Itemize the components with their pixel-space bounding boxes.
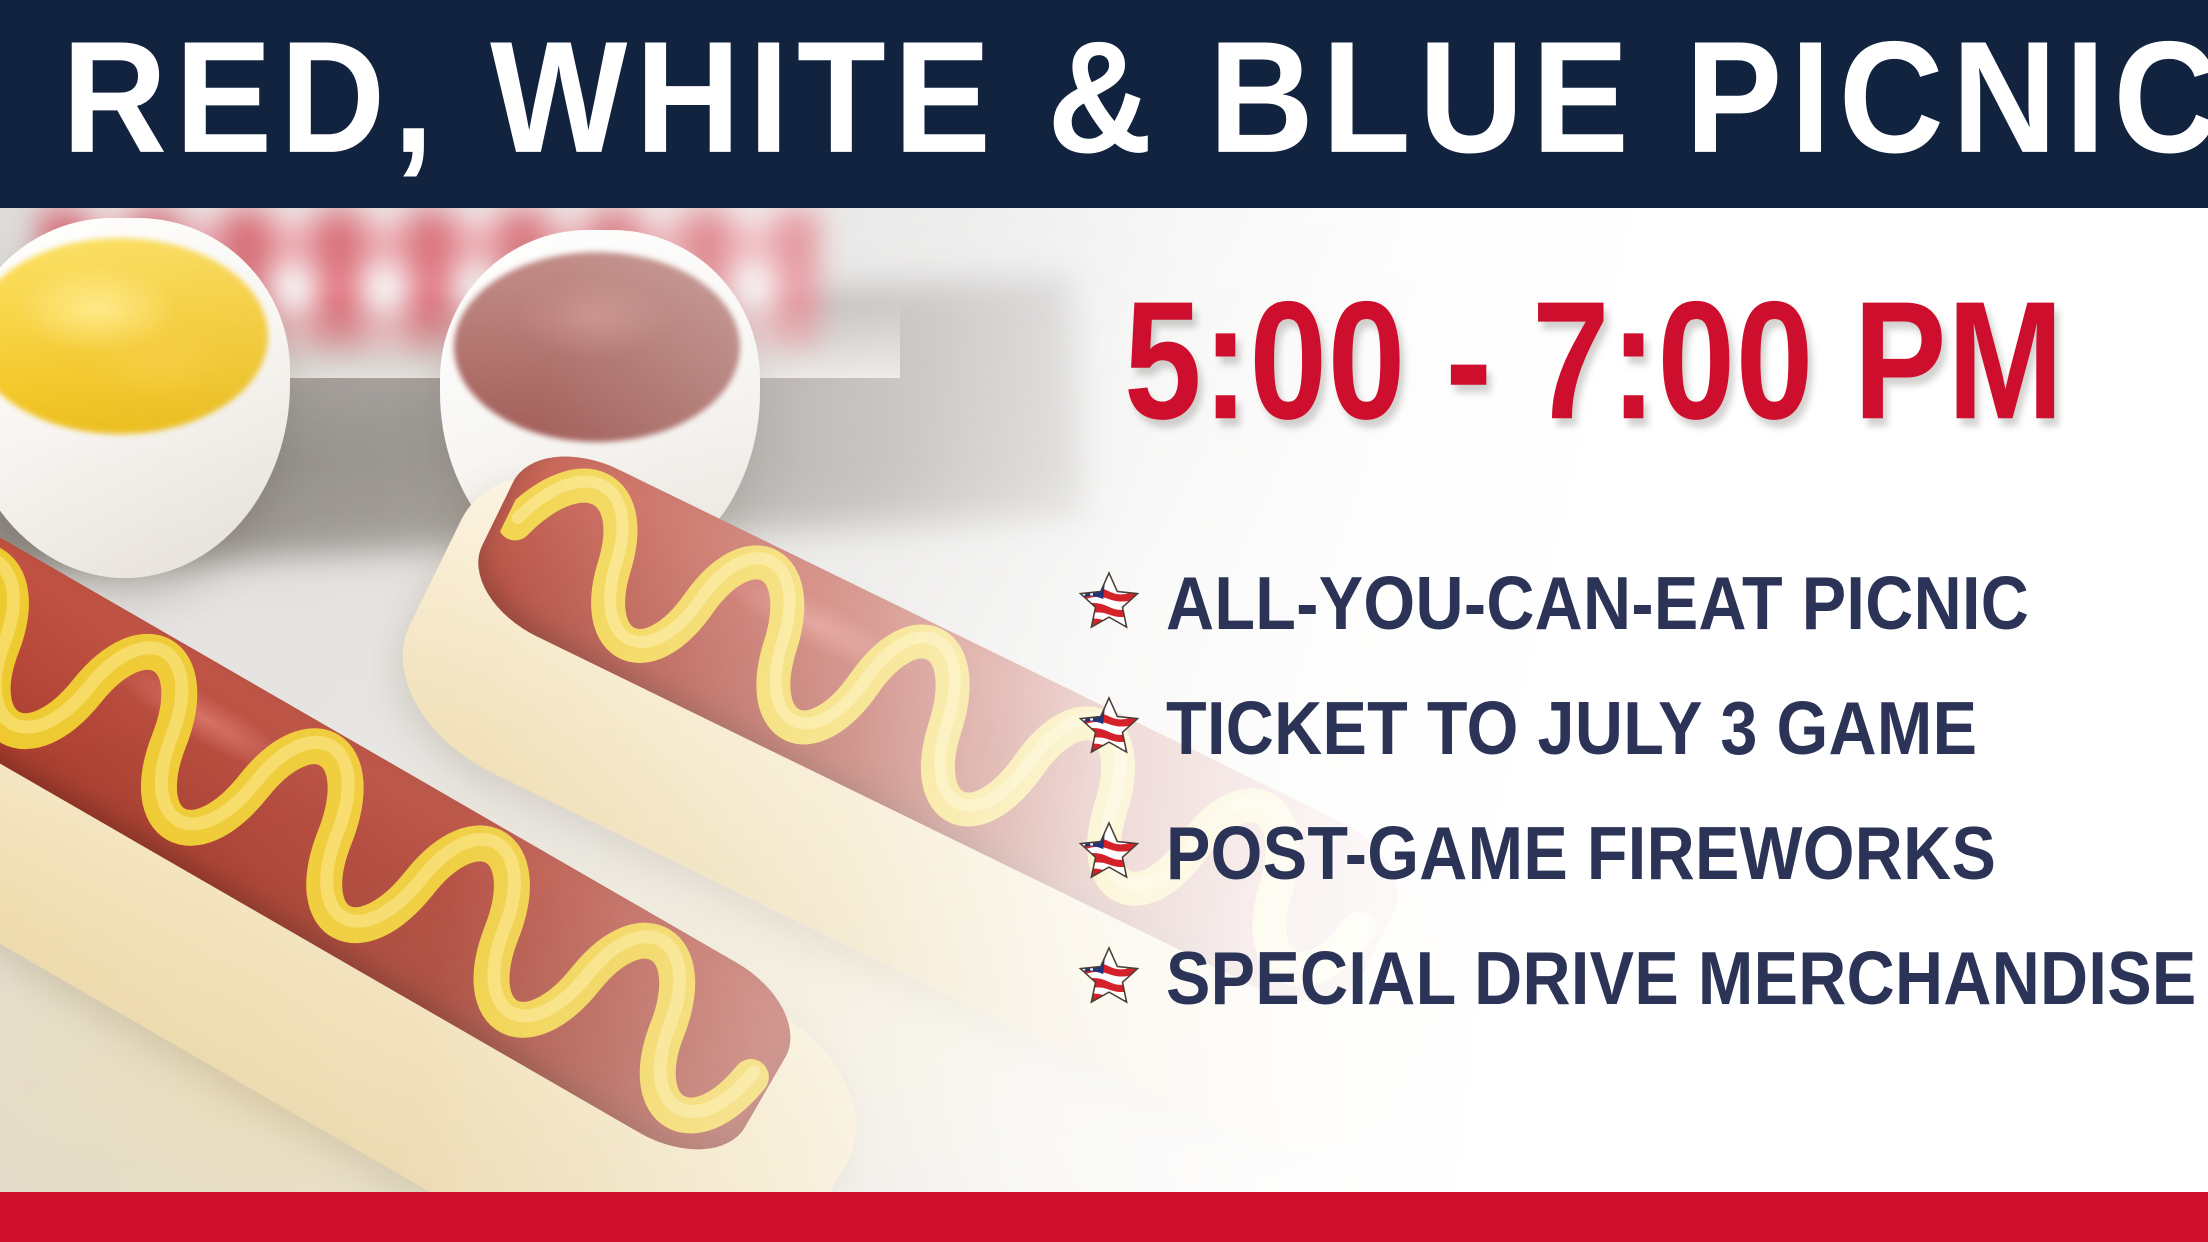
list-item: POST-GAME FIREWORKS xyxy=(1078,790,2198,915)
list-item: SPECIAL DRIVE MERCHANDISE OFFER xyxy=(1078,915,2198,1040)
list-item-label: POST-GAME FIREWORKS xyxy=(1166,815,1996,891)
list-item-label: TICKET TO JULY 3 GAME xyxy=(1166,690,1977,766)
event-time: 5:00 - 7:00 PM xyxy=(1124,276,2064,444)
list-item: TICKET TO JULY 3 GAME xyxy=(1078,665,2198,790)
header-bar: RED, WHITE & BLUE PICNIC xyxy=(0,0,2208,208)
features-list: ALL-YOU-CAN-EAT PICNIC xyxy=(1078,540,2198,1040)
list-item-label: SPECIAL DRIVE MERCHANDISE OFFER xyxy=(1166,940,2208,1016)
american-flag-star-icon xyxy=(1078,695,1140,757)
footer-bar xyxy=(0,1192,2208,1242)
list-item: ALL-YOU-CAN-EAT PICNIC xyxy=(1078,540,2198,665)
promo-banner: RED, WHITE & BLUE PICNIC xyxy=(0,0,2208,1242)
page-title: RED, WHITE & BLUE PICNIC xyxy=(62,12,2084,182)
american-flag-star-icon xyxy=(1078,570,1140,632)
american-flag-star-icon xyxy=(1078,945,1140,1007)
american-flag-star-icon xyxy=(1078,820,1140,882)
list-item-label: ALL-YOU-CAN-EAT PICNIC xyxy=(1166,565,2029,641)
